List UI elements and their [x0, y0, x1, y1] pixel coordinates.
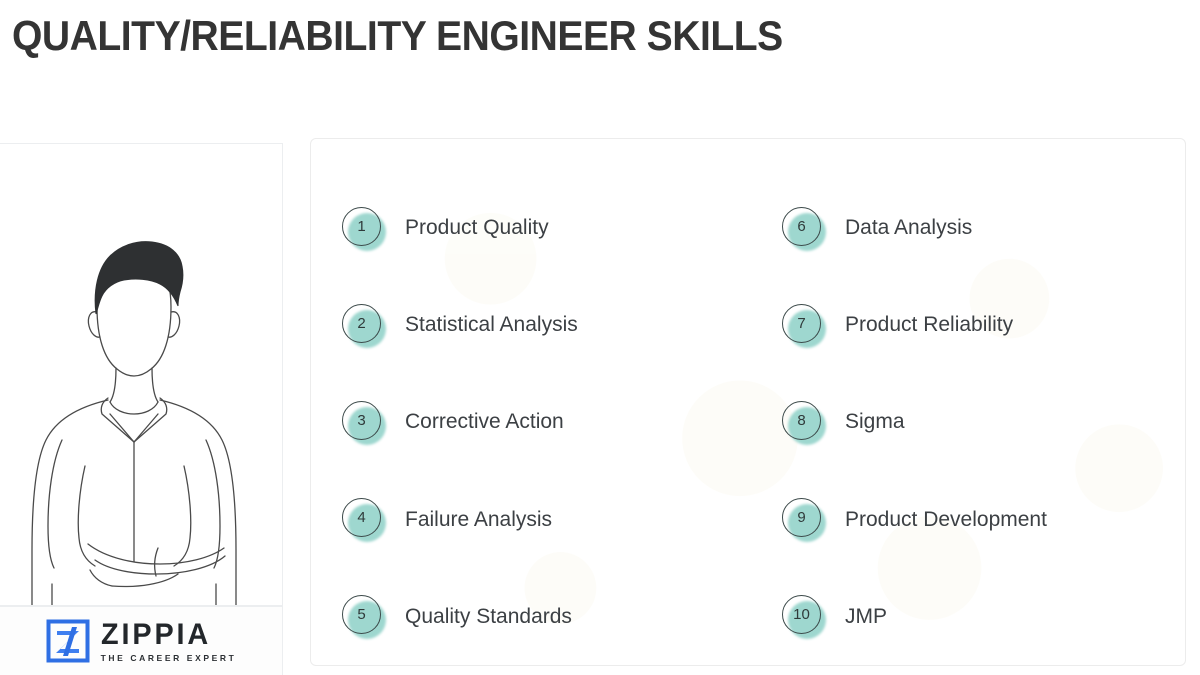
badge-number-text: 5	[357, 607, 365, 622]
skill-label: Corrective Action	[405, 410, 564, 433]
skill-label: Statistical Analysis	[405, 313, 578, 336]
badge-number-text: 7	[797, 316, 805, 331]
page-title: QUALITY/RELIABILITY ENGINEER SKILLS	[12, 12, 783, 60]
list-item[interactable]: 7 Product Reliability	[779, 276, 1185, 373]
skill-number-badge: 1	[339, 204, 387, 252]
skill-label: Product Reliability	[845, 313, 1013, 336]
list-item[interactable]: 3 Corrective Action	[339, 373, 748, 470]
badge-ring-shape: 7	[782, 304, 821, 343]
list-item[interactable]: 4 Failure Analysis	[339, 471, 748, 568]
zippia-wordmark-text: ZIPPIA	[101, 620, 211, 650]
skill-label: Data Analysis	[845, 216, 972, 239]
skill-number-badge: 6	[779, 204, 827, 252]
logo-footer: ZIPPIA THE CAREER EXPERT	[0, 606, 283, 675]
zippia-logo[interactable]: ZIPPIA THE CAREER EXPERT	[46, 619, 237, 663]
list-item[interactable]: 10 JMP	[779, 568, 1185, 665]
zippia-z-mark-icon	[46, 619, 90, 663]
skill-number-badge: 5	[339, 592, 387, 640]
list-item[interactable]: 8 Sigma	[779, 373, 1185, 470]
badge-ring-shape: 9	[782, 498, 821, 537]
badge-ring-shape: 6	[782, 207, 821, 246]
list-item[interactable]: 9 Product Development	[779, 471, 1185, 568]
skill-number-badge: 4	[339, 495, 387, 543]
badge-ring-shape: 4	[342, 498, 381, 537]
badge-number-text: 9	[797, 510, 805, 525]
skills-card: 1 Product Quality 2 Statistical Analysis	[310, 138, 1186, 666]
skill-label: Sigma	[845, 410, 905, 433]
list-item[interactable]: 2 Statistical Analysis	[339, 276, 748, 373]
skill-number-badge: 9	[779, 495, 827, 543]
list-item[interactable]: 5 Quality Standards	[339, 568, 748, 665]
hair-shape	[95, 242, 183, 314]
list-item[interactable]: 6 Data Analysis	[779, 179, 1185, 276]
badge-ring-shape: 2	[342, 304, 381, 343]
badge-number-text: 8	[797, 413, 805, 428]
badge-number-text: 3	[357, 413, 365, 428]
skill-number-badge: 3	[339, 398, 387, 446]
skill-number-badge: 2	[339, 301, 387, 349]
badge-ring-shape: 3	[342, 401, 381, 440]
badge-ring-shape: 8	[782, 401, 821, 440]
skill-number-badge: 10	[779, 592, 827, 640]
badge-number-text: 6	[797, 219, 805, 234]
badge-ring-shape: 1	[342, 207, 381, 246]
skills-column-right: 6 Data Analysis 7 Product Reliability	[748, 179, 1185, 665]
skill-number-badge: 7	[779, 301, 827, 349]
skill-label: JMP	[845, 605, 887, 628]
skill-label: Quality Standards	[405, 605, 572, 628]
skill-label: Product Quality	[405, 216, 549, 239]
skill-label: Product Development	[845, 508, 1047, 531]
illustration-panel	[0, 143, 283, 606]
badge-number-text: 10	[793, 607, 810, 622]
engineer-illustration	[0, 144, 283, 606]
zippia-tagline-text: THE CAREER EXPERT	[101, 654, 237, 663]
list-item[interactable]: 1 Product Quality	[339, 179, 748, 276]
skills-column-left: 1 Product Quality 2 Statistical Analysis	[311, 179, 748, 665]
badge-number-text: 4	[357, 510, 365, 525]
badge-number-text: 1	[357, 219, 365, 234]
skill-number-badge: 8	[779, 398, 827, 446]
skill-label: Failure Analysis	[405, 508, 552, 531]
badge-number-text: 2	[357, 316, 365, 331]
